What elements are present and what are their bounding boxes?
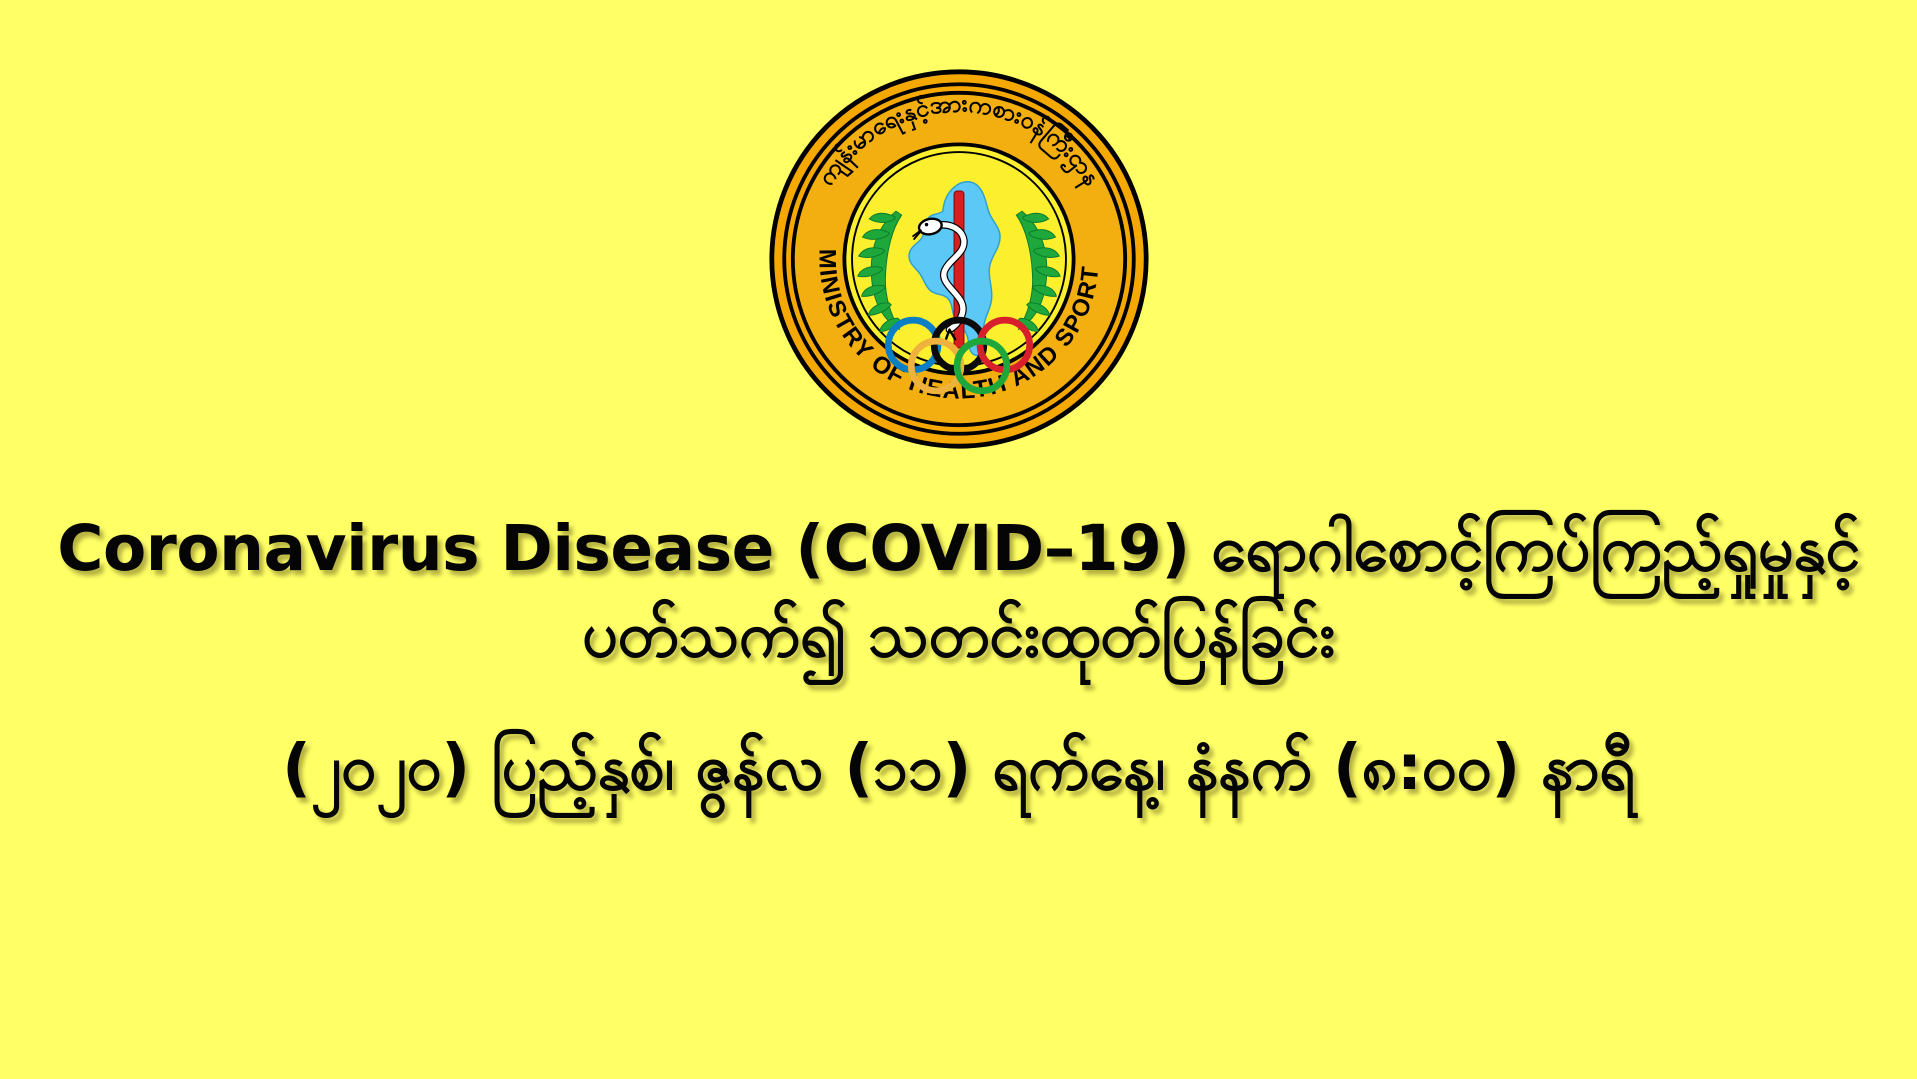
announcement-text-block: Coronavirus Disease (COVID–19) ရောဂါစောင…	[29, 508, 1889, 808]
headline: Coronavirus Disease (COVID–19) ရောဂါစောင…	[29, 508, 1889, 676]
dateline: (၂၀၂၀) ပြည့်နှစ်၊ ဇွန်လ (၁၁) ရက်နေ့၊ နံန…	[29, 728, 1889, 809]
headline-line-1: Coronavirus Disease (COVID–19) ရောဂါစောင…	[57, 512, 1859, 585]
ministry-seal-logo: ကျန်းမာရေးနှင့်အားကစားဝန်ကြီးဌာန MINISTR…	[768, 68, 1150, 450]
headline-line-2: ပတ်သက်၍ သတင်းထုတ်ပြန်ခြင်း	[29, 594, 1889, 676]
news-release-slide: ကျန်းမာရေးနှင့်အားကစားဝန်ကြီးဌာန MINISTR…	[0, 0, 1917, 1079]
ministry-seal-icon: ကျန်းမာရေးနှင့်အားကစားဝန်ကြီးဌာန MINISTR…	[768, 68, 1150, 450]
